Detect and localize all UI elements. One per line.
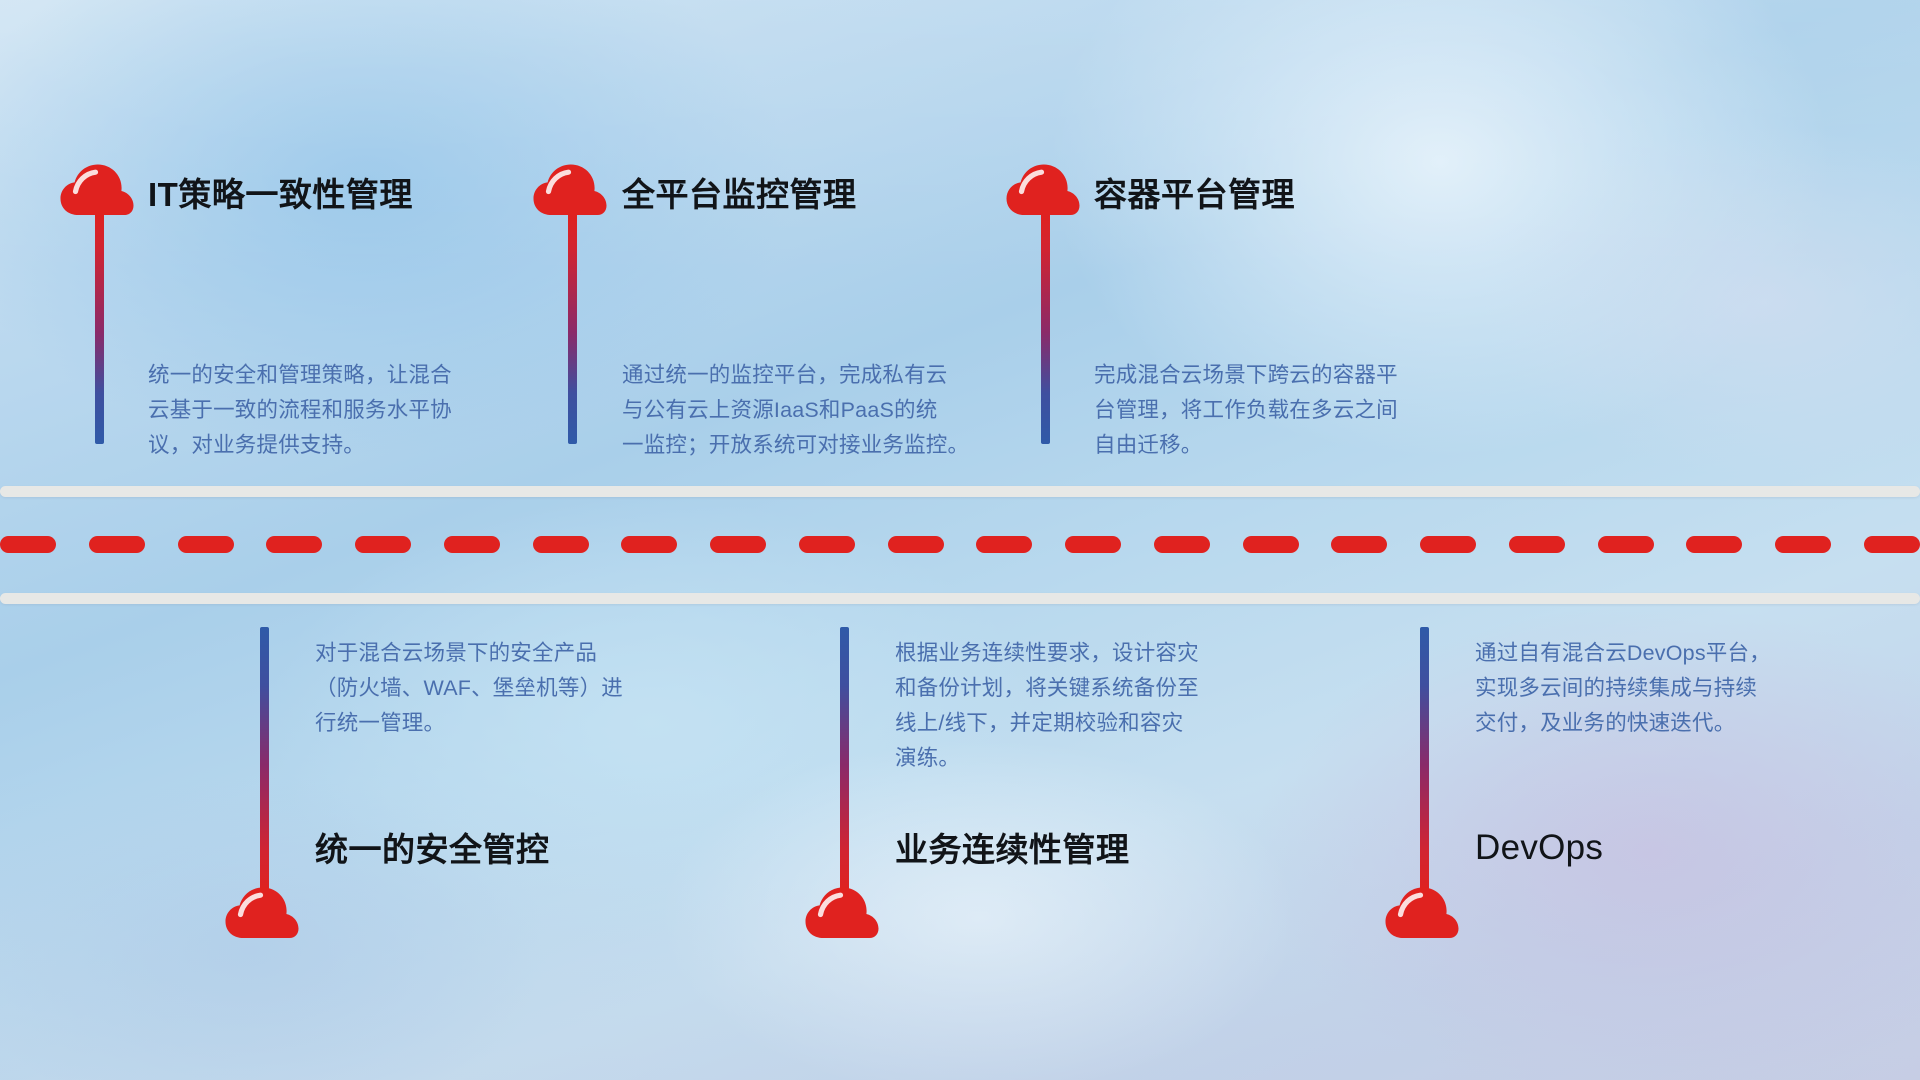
road-dash-segment [266, 536, 322, 553]
cloud-pin-icon [1384, 886, 1460, 940]
body-business-continuity: 根据业务连续性要求，设计容灾 和备份计划，将关键系统备份至 线上/线下，并定期校… [895, 636, 1275, 776]
road-dash-segment [1243, 536, 1299, 553]
heading-it-policy-consistency: IT策略一致性管理 [148, 178, 413, 211]
road-dash-segment [1065, 536, 1121, 553]
heading-full-platform-monitoring: 全平台监控管理 [622, 178, 857, 211]
road-dash-segment [1686, 536, 1742, 553]
road-dash-segment [444, 536, 500, 553]
road-divider [0, 486, 1920, 604]
heading-devops: DevOps [1475, 830, 1603, 865]
road-dash-segment [888, 536, 944, 553]
road-dash-segment [0, 536, 56, 553]
road-dash-segment [89, 536, 145, 553]
body-container-platform: 完成混合云场景下跨云的容器平 台管理，将工作负载在多云之间 自由迁移。 [1094, 358, 1474, 463]
cloud-pin-icon [804, 886, 880, 940]
road-edge-bottom [0, 593, 1920, 604]
road-dash-segment [1509, 536, 1565, 553]
road-dash-segment [1154, 536, 1210, 553]
pin-stem [840, 627, 849, 893]
road-dash-segment [1864, 536, 1920, 553]
road-dash-segment [976, 536, 1032, 553]
body-it-policy-consistency: 统一的安全和管理策略，让混合 云基于一致的流程和服务水平协 议，对业务提供支持。 [148, 358, 508, 463]
road-dash-segment [355, 536, 411, 553]
road-dash-segment [1420, 536, 1476, 553]
road-dash-segment [621, 536, 677, 553]
pin-stem [1041, 212, 1050, 444]
road-dash-segment [1331, 536, 1387, 553]
pin-stem [1420, 627, 1429, 893]
heading-container-platform: 容器平台管理 [1094, 178, 1295, 211]
pin-stem [260, 627, 269, 893]
infographic-canvas: IT策略一致性管理 统一的安全和管理策略，让混合 云基于一致的流程和服务水平协 … [0, 0, 1920, 1080]
road-edge-top [0, 486, 1920, 497]
body-devops: 通过自有混合云DevOps平台， 实现多云间的持续集成与持续 交付，及业务的快速… [1475, 636, 1865, 741]
road-dash-segment [178, 536, 234, 553]
road-dash-segment [1598, 536, 1654, 553]
body-full-platform-monitoring: 通过统一的监控平台，完成私有云 与公有云上资源IaaS和PaaS的统 一监控；开… [622, 358, 1022, 463]
road-dash-segment [1775, 536, 1831, 553]
cloud-pin-icon [532, 163, 608, 217]
pin-stem [568, 212, 577, 444]
body-unified-security: 对于混合云场景下的安全产品 （防火墙、WAF、堡垒机等）进 行统一管理。 [315, 636, 695, 741]
road-center-dashes [0, 536, 1920, 553]
pin-stem [95, 212, 104, 444]
cloud-pin-icon [59, 163, 135, 217]
cloud-pin-icon [1005, 163, 1081, 217]
road-dash-segment [710, 536, 766, 553]
road-dash-segment [799, 536, 855, 553]
road-dash-segment [533, 536, 589, 553]
cloud-pin-icon [224, 886, 300, 940]
heading-business-continuity: 业务连续性管理 [895, 833, 1130, 866]
heading-unified-security: 统一的安全管控 [315, 833, 550, 866]
